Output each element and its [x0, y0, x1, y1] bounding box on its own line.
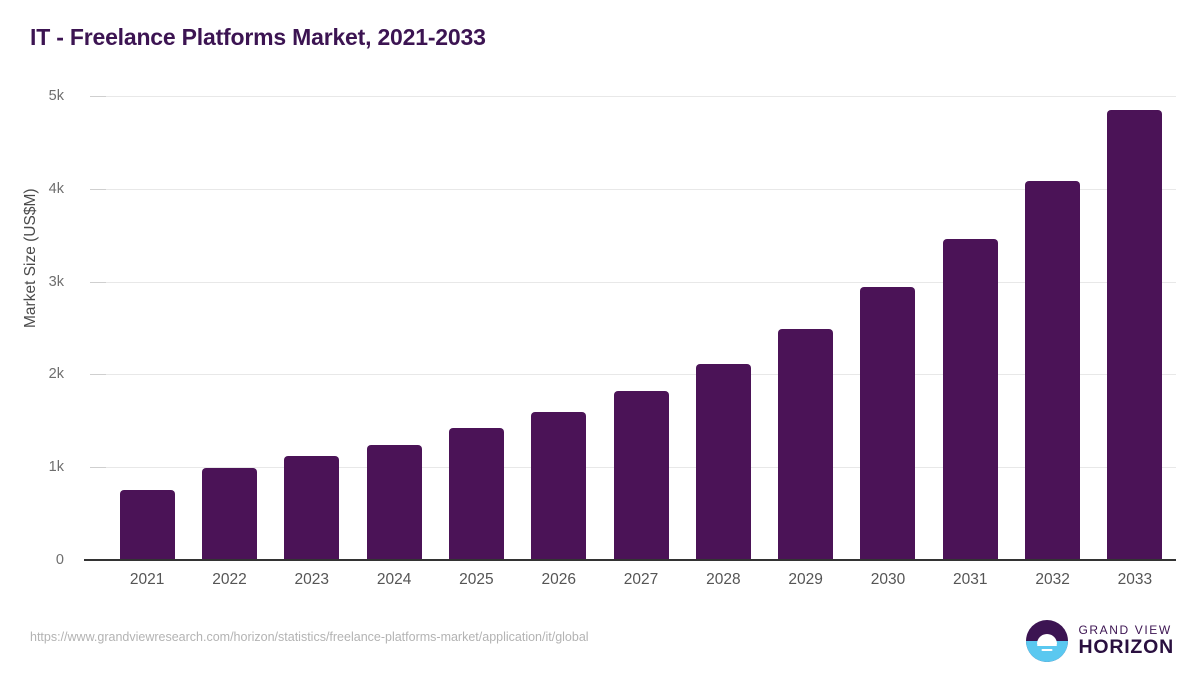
bar-2030[interactable] — [860, 287, 915, 560]
y-tick-label: 3k — [4, 274, 64, 290]
x-tick-label-2033: 2033 — [1094, 571, 1176, 589]
bar-slot: 2023 — [271, 96, 353, 560]
bar-2026[interactable] — [531, 412, 586, 560]
x-tick-label-2028: 2028 — [682, 571, 764, 589]
bar-slot: 2033 — [1094, 96, 1176, 560]
bar-slot: 2022 — [188, 96, 270, 560]
bar-slot: 2031 — [929, 96, 1011, 560]
horizon-ray-one — [1037, 644, 1057, 647]
y-tick-label: 2k — [4, 366, 64, 382]
bar-2022[interactable] — [202, 468, 257, 560]
x-tick-label-2029: 2029 — [765, 571, 847, 589]
x-tick-label-2025: 2025 — [435, 571, 517, 589]
bar-slot: 2027 — [600, 96, 682, 560]
bar-slot: 2026 — [518, 96, 600, 560]
y-tick-label: 1k — [4, 459, 64, 475]
y-tick-mark — [90, 189, 106, 190]
bar-2021[interactable] — [120, 490, 175, 560]
x-tick-label-2026: 2026 — [518, 571, 600, 589]
chart-title: IT - Freelance Platforms Market, 2021-20… — [30, 24, 486, 51]
bar-2033[interactable] — [1107, 110, 1162, 560]
bar-2029[interactable] — [778, 329, 833, 560]
y-tick-label: 0 — [4, 552, 64, 568]
bar-2032[interactable] — [1025, 181, 1080, 560]
x-tick-label-2022: 2022 — [188, 571, 270, 589]
x-tick-label-2027: 2027 — [600, 571, 682, 589]
chart-page: IT - Freelance Platforms Market, 2021-20… — [0, 0, 1200, 675]
bar-2025[interactable] — [449, 428, 504, 560]
bar-slot: 2028 — [682, 96, 764, 560]
horizon-sun-icon — [1026, 620, 1068, 662]
bar-slot: 2032 — [1011, 96, 1093, 560]
y-axis-title: Market Size (US$M) — [22, 188, 40, 328]
bar-2028[interactable] — [696, 364, 751, 560]
bar-slot: 2030 — [847, 96, 929, 560]
bar-2027[interactable] — [614, 391, 669, 560]
bar-slot: 2025 — [435, 96, 517, 560]
horizon-sun-shape — [1037, 634, 1057, 644]
bar-2024[interactable] — [367, 445, 422, 560]
bar-series: 2021202220232024202520262027202820292030… — [106, 96, 1176, 560]
y-tick-mark — [90, 282, 106, 283]
plot-area: 01k2k3k4k5k 2021202220232024202520262027… — [106, 96, 1176, 560]
bar-slot: 2029 — [765, 96, 847, 560]
bar-2023[interactable] — [284, 456, 339, 560]
logo-line-two: HORIZON — [1078, 637, 1174, 657]
x-tick-label-2030: 2030 — [847, 571, 929, 589]
bar-slot: 2024 — [353, 96, 435, 560]
y-tick-mark — [90, 374, 106, 375]
x-tick-label-2032: 2032 — [1011, 571, 1093, 589]
horizon-ray-two — [1042, 649, 1053, 652]
x-tick-label-2031: 2031 — [929, 571, 1011, 589]
x-tick-label-2021: 2021 — [106, 571, 188, 589]
y-tick-mark — [90, 467, 106, 468]
y-tick-label: 5k — [4, 88, 64, 104]
y-tick-mark — [90, 96, 106, 97]
source-url[interactable]: https://www.grandviewresearch.com/horizo… — [30, 630, 589, 644]
y-tick-label: 4k — [4, 181, 64, 197]
bar-slot: 2021 — [106, 96, 188, 560]
x-tick-label-2024: 2024 — [353, 571, 435, 589]
x-tick-label-2023: 2023 — [271, 571, 353, 589]
logo-wordmark: GRAND VIEW HORIZON — [1078, 624, 1174, 657]
grand-view-horizon-logo: GRAND VIEW HORIZON — [1026, 620, 1174, 662]
x-axis-line — [84, 559, 1176, 561]
bar-2031[interactable] — [943, 239, 998, 560]
